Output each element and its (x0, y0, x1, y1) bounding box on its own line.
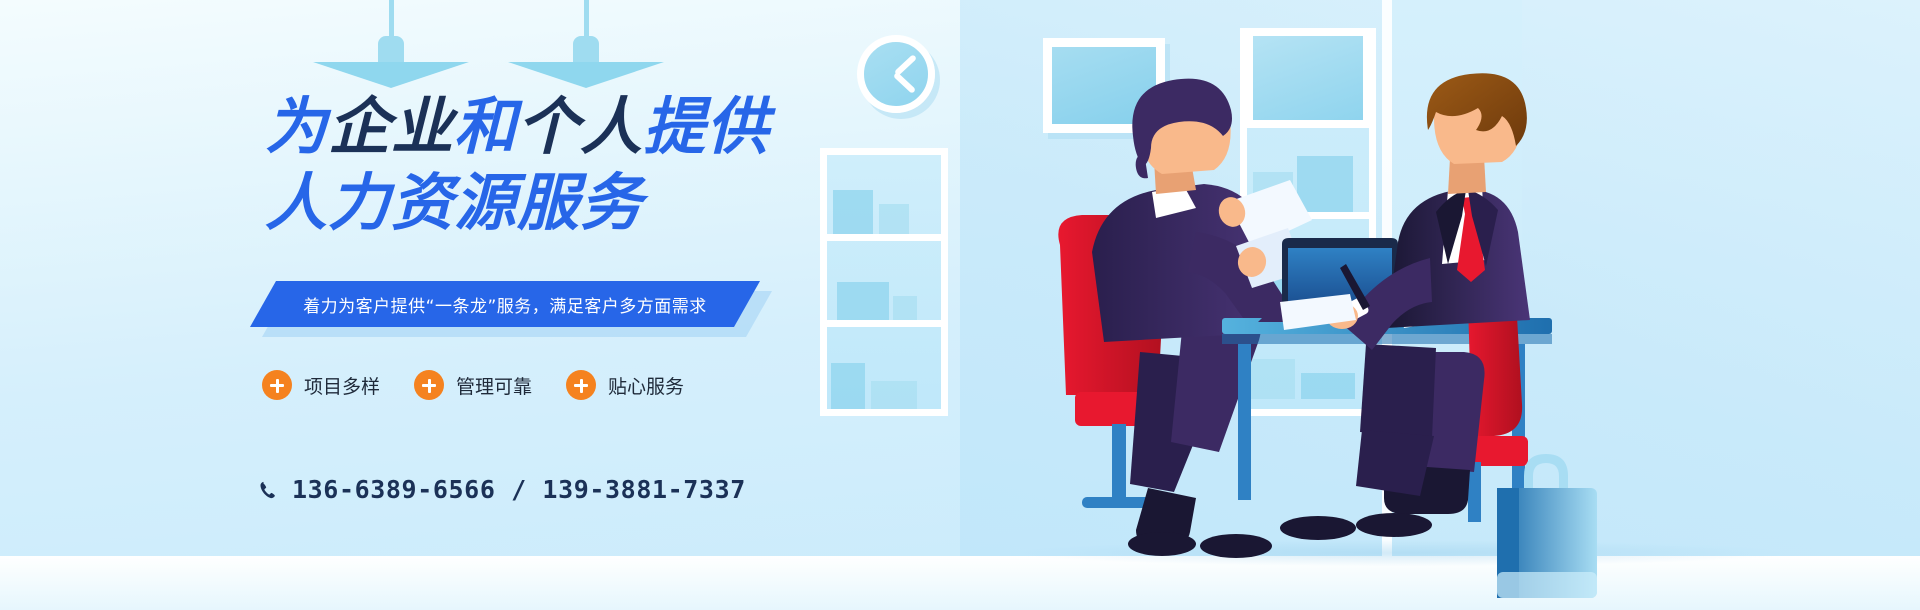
page-title: 为企业和个人提供 人力资源服务 (265, 96, 769, 234)
picture-frame-icon (1245, 28, 1371, 128)
feature-item[interactable]: 项目多样 (262, 370, 380, 400)
headline-seg: 为 (265, 90, 328, 163)
plus-circle-icon (566, 370, 596, 400)
plus-circle-icon (262, 370, 292, 400)
feature-item[interactable]: 贴心服务 (566, 370, 684, 400)
phone-icon (258, 479, 278, 501)
feature-list: 项目多样 管理可靠 贴心服务 (262, 370, 684, 400)
headline-seg: 企业 (328, 90, 454, 163)
phone-number: 136-6389-6566 / 139-3881-7337 (292, 475, 746, 504)
headline-seg: 个人 (517, 90, 643, 163)
ribbon-body: 着力为客户提供“一条龙”服务，满足客户多方面需求 (250, 281, 760, 327)
subtitle-text: 着力为客户提供“一条龙”服务，满足客户多方面需求 (303, 292, 707, 317)
headline-seg: 人力资源服务 (265, 166, 643, 239)
feature-label: 贴心服务 (608, 372, 684, 399)
feature-label: 管理可靠 (456, 372, 532, 399)
feature-item[interactable]: 管理可靠 (414, 370, 532, 400)
plus-circle-icon (414, 370, 444, 400)
subtitle-ribbon: 着力为客户提供“一条龙”服务，满足客户多方面需求 (250, 281, 760, 327)
contact-phone[interactable]: 136-6389-6566 / 139-3881-7337 (258, 475, 746, 504)
headline-line-2: 人力资源服务 (265, 172, 769, 234)
feature-label: 项目多样 (304, 372, 380, 399)
headline-seg: 和 (454, 90, 517, 163)
headline-seg: 提供 (643, 90, 769, 163)
hero-banner: 为企业和个人提供 人力资源服务 着力为客户提供“一条龙”服务，满足客户多方面需求… (0, 0, 1920, 610)
headline-line-1: 为企业和个人提供 (265, 90, 769, 163)
